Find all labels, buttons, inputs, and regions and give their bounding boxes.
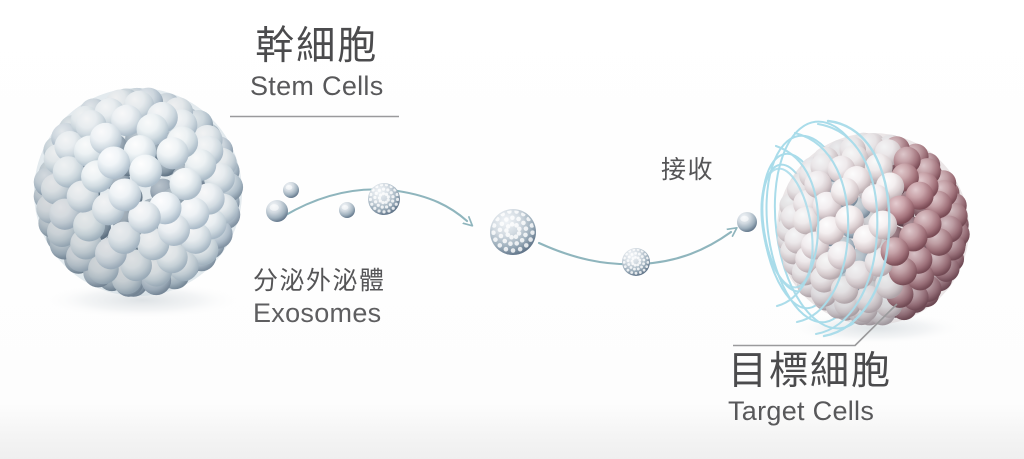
receive-label-cjk: 接收 bbox=[661, 157, 714, 182]
exosomes-label-cjk: 分泌外泌體 bbox=[253, 268, 386, 293]
exosomes-label-en: Exosomes bbox=[253, 300, 386, 327]
stem-cells-label-cjk: 幹細胞 bbox=[250, 27, 384, 66]
diagram-canvas: 幹細胞 Stem Cells 分泌外泌體 Exosomes 接收 目標細胞 Ta… bbox=[0, 0, 1024, 459]
exosome-particle bbox=[737, 212, 757, 232]
exosome-particle bbox=[339, 202, 355, 218]
target-cells-label: 目標細胞 Target Cells bbox=[728, 352, 892, 425]
target-cells-label-cjk: 目標細胞 bbox=[728, 352, 892, 391]
exosome-particle bbox=[266, 200, 288, 222]
stem-cell-cluster bbox=[34, 88, 243, 297]
exosome-particles bbox=[266, 182, 757, 276]
exosomes-label: 分泌外泌體 Exosomes bbox=[253, 268, 386, 327]
target-cells-label-en: Target Cells bbox=[728, 398, 892, 425]
stem-cells-label: 幹細胞 Stem Cells bbox=[250, 27, 384, 100]
receive-label: 接收 bbox=[661, 157, 714, 182]
exosome-particle bbox=[490, 209, 536, 255]
exosome-particle bbox=[622, 248, 650, 276]
exosome-particle bbox=[283, 182, 299, 198]
stem-cells-label-en: Stem Cells bbox=[250, 73, 384, 100]
exosome-particle bbox=[368, 183, 400, 215]
